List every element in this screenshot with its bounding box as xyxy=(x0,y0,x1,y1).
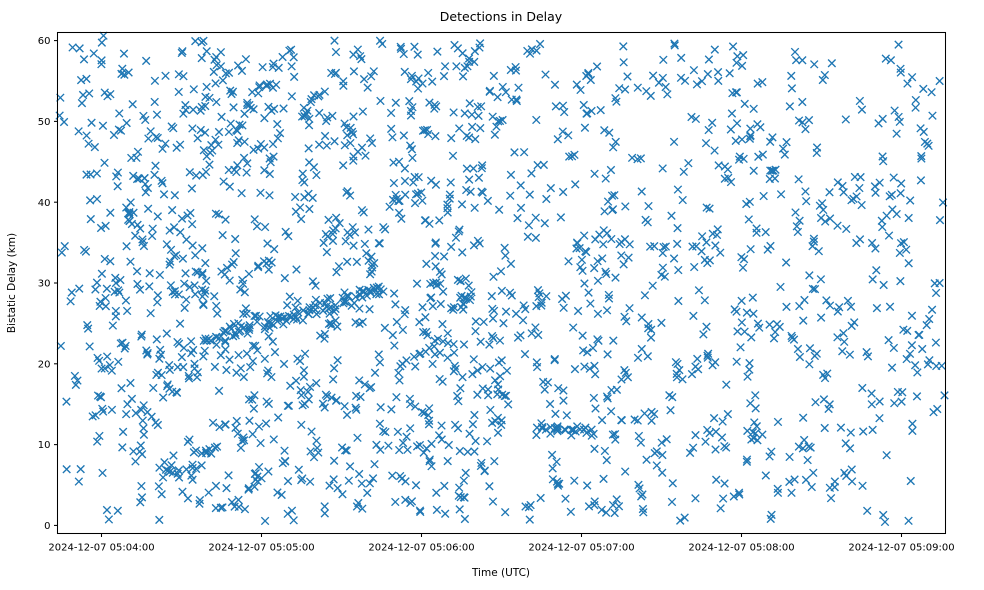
y-tick-label: 10 xyxy=(38,440,51,451)
page-title: Detections in Delay xyxy=(440,9,563,24)
x-tick-label: 2024-12-07 05:09:00 xyxy=(848,543,954,554)
y-tick-label: 0 xyxy=(44,521,50,532)
y-tick-label: 30 xyxy=(38,279,51,290)
y-axis-label: Bistatic Delay (km) xyxy=(6,233,18,333)
scatter-plot-canvas: 2024-12-07 05:04:002024-12-07 05:05:0020… xyxy=(0,0,984,590)
y-tick-label: 50 xyxy=(38,117,51,128)
matplotlib-figure: 2024-12-07 05:04:002024-12-07 05:05:0020… xyxy=(0,0,984,590)
x-tick-label: 2024-12-07 05:05:00 xyxy=(208,543,314,554)
y-tick-label: 20 xyxy=(38,359,51,370)
x-tick-label: 2024-12-07 05:04:00 xyxy=(48,543,154,554)
x-tick-label: 2024-12-07 05:06:00 xyxy=(368,543,474,554)
x-tick-label: 2024-12-07 05:08:00 xyxy=(688,543,794,554)
y-tick-label: 40 xyxy=(38,198,51,209)
y-tick-label: 60 xyxy=(38,36,51,47)
x-axis-label: Time (UTC) xyxy=(471,567,530,579)
x-tick-label: 2024-12-07 05:07:00 xyxy=(528,543,634,554)
